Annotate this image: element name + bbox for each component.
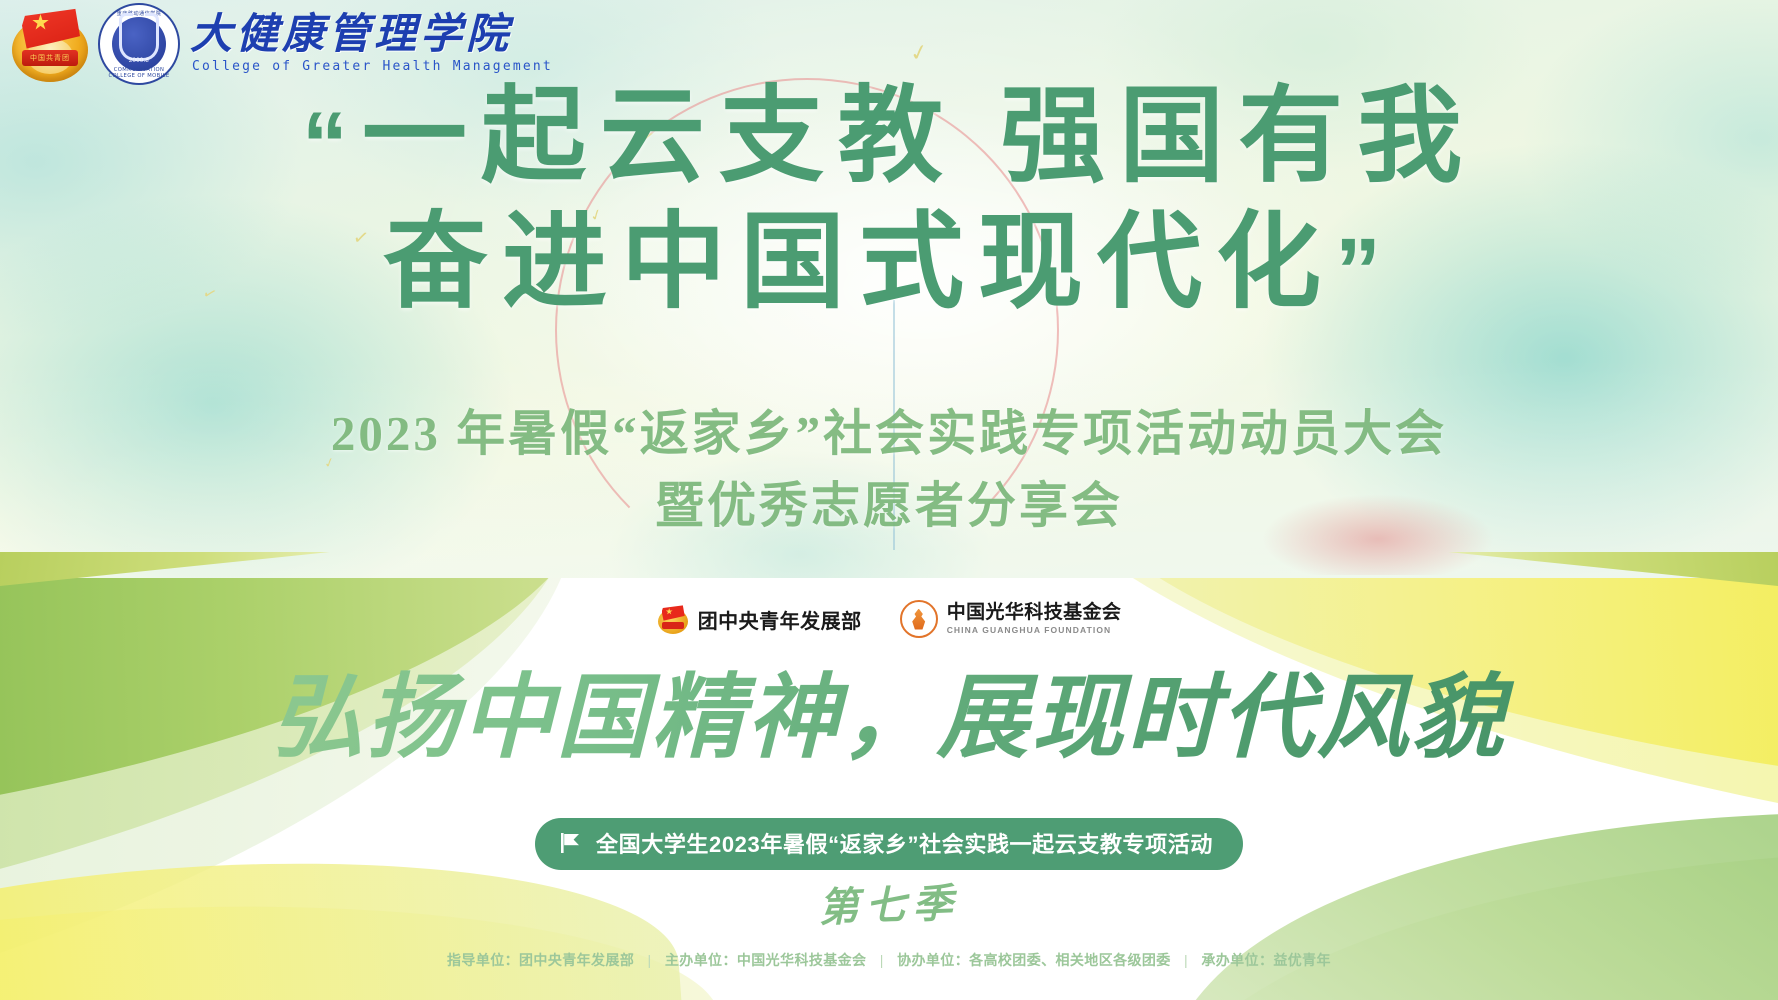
- org-cycl-label: 团中央青年发展部: [698, 605, 862, 634]
- footer-item-0: 指导单位：团中央青年发展部: [447, 952, 634, 968]
- banner-subtitle: 2023 年暑假“返家乡”社会实践专项活动动员大会 暨优秀志愿者分享会: [0, 398, 1778, 542]
- close-quote-glyph: ”: [1335, 220, 1395, 322]
- main-title-line-2: 奋进中国式现代化”: [0, 204, 1778, 330]
- bird-icon: ✓: [907, 38, 930, 67]
- panel-slogan: 弘扬中国精神，展现时代风貌: [0, 666, 1778, 770]
- header-logos: 中国共青团 重庆移动通信学院 2000.8 COMMUNICATION COLL…: [8, 2, 553, 86]
- cycl-emblem-band: 中国共青团: [22, 50, 78, 66]
- seal-inner-disc: 2000.8: [112, 17, 166, 71]
- organizer-logos: 团中央青年发展部 中国光华科技基金会 CHINA GUANGHUA FOUNDA…: [0, 600, 1778, 638]
- org-guanghua: 中国光华科技基金会 CHINA GUANGHUA FOUNDATION: [900, 600, 1122, 638]
- footer-credits: 指导单位：团中央青年发展部 | 主办单位：中国光华科技基金会 | 协办单位：各高…: [0, 950, 1778, 970]
- banner-subtitle-line-2: 暨优秀志愿者分享会: [0, 470, 1778, 542]
- lower-panel: 团中央青年发展部 中国光华科技基金会 CHINA GUANGHUA FOUNDA…: [0, 578, 1778, 1000]
- cycl-emblem-icon: [657, 603, 689, 635]
- college-name-block: 大健康管理学院 College of Greater Health Manage…: [190, 12, 553, 74]
- activity-pill: 全国大学生2023年暑假“返家乡”社会实践一起云支教专项活动: [535, 818, 1243, 870]
- org-guanghua-text: 中国光华科技基金会 CHINA GUANGHUA FOUNDATION: [947, 603, 1122, 635]
- footer-item-3: 承办单位：益优青年: [1201, 952, 1331, 968]
- activity-pill-text: 全国大学生2023年暑假“返家乡”社会实践一起云支教专项活动: [596, 827, 1213, 859]
- footer-item-1: 主办单位：中国光华科技基金会: [665, 952, 867, 968]
- main-title-text-2: 奋进中国式现代化: [383, 204, 1335, 321]
- org-guanghua-label-en: CHINA GUANGHUA FOUNDATION: [947, 626, 1122, 635]
- footer-separator: |: [648, 952, 652, 968]
- flag-icon: [561, 833, 580, 853]
- seal-arc-top-text: 重庆移动通信学院: [100, 10, 178, 17]
- guanghua-foundation-icon: [900, 600, 938, 638]
- college-name-en: College of Greater Health Management: [192, 59, 553, 74]
- college-name-cn: 大健康管理学院: [190, 12, 553, 58]
- footer-item-2: 协办单位：各高校团委、相关地区各级团委: [897, 952, 1171, 968]
- seal-arc-bottom-text: COMMUNICATION COLLEGE OF MOBILE: [100, 67, 178, 79]
- seal-date: 2000.8: [112, 58, 166, 64]
- org-cycl: 团中央青年发展部: [657, 603, 862, 635]
- cycl-mini-band: [662, 622, 684, 629]
- main-title-text-1: 一起云支教 强国有我: [362, 78, 1476, 195]
- seal-monogram-icon: [119, 24, 159, 61]
- footer-separator: |: [880, 952, 884, 968]
- flame-icon: [909, 609, 928, 630]
- org-guanghua-label: 中国光华科技基金会: [947, 603, 1122, 623]
- open-quote-glyph: “: [302, 94, 362, 196]
- main-title: “一起云支教 强国有我 奋进中国式现代化”: [0, 78, 1778, 330]
- footer-separator: |: [1184, 952, 1188, 968]
- main-title-line-1: “一起云支教 强国有我: [0, 78, 1778, 204]
- cycl-emblem-icon: 中国共青团: [8, 2, 92, 86]
- college-seal-icon: 重庆移动通信学院 2000.8 COMMUNICATION COLLEGE OF…: [98, 3, 180, 85]
- poster-root: ✓ ✓ ✓ ✓ ✓ ✓ ✓ 中国共青团 重庆移动通信学院 2000.8 COMM…: [0, 0, 1778, 1000]
- banner-subtitle-line-1: 2023 年暑假“返家乡”社会实践专项活动动员大会: [0, 398, 1778, 470]
